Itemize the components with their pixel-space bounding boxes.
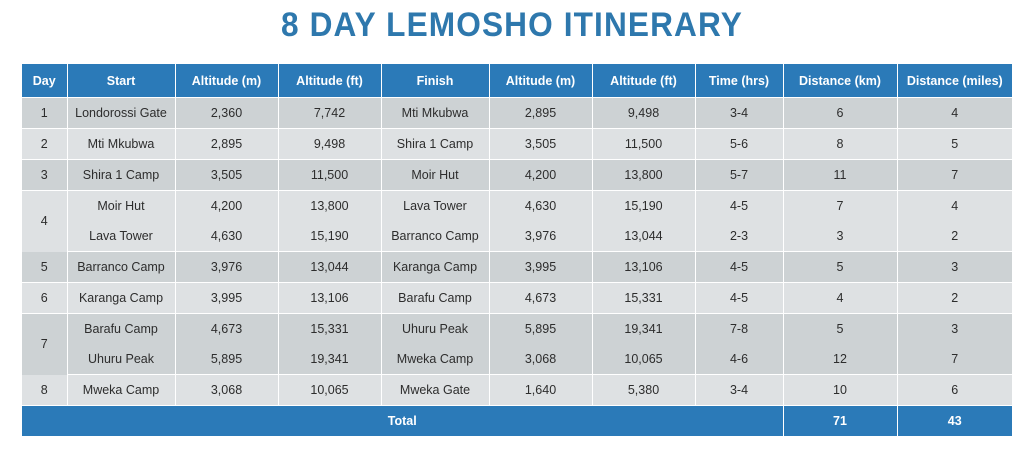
column-header-time[interactable]: Time (hrs): [695, 64, 783, 98]
cell-finish-altitude-m: 3,995: [489, 252, 592, 283]
cell-start: Shira 1 Camp: [67, 160, 175, 191]
cell-finish: Mti Mkubwa: [381, 98, 489, 129]
cell-start-altitude-m: 4,200: [175, 191, 278, 222]
cell-finish-altitude-ft: 13,106: [592, 252, 695, 283]
cell-finish-altitude-ft: 10,065: [592, 344, 695, 375]
cell-time-hrs: 7-8: [695, 314, 783, 345]
cell-distance-km: 7: [783, 191, 897, 222]
cell-start: Karanga Camp: [67, 283, 175, 314]
cell-day: 8: [22, 375, 67, 406]
itinerary-table: Day Start Altitude (m) Altitude (ft) Fin…: [22, 64, 1012, 436]
cell-start: Barranco Camp: [67, 252, 175, 283]
cell-time-hrs: 2-3: [695, 221, 783, 252]
cell-finish: Lava Tower: [381, 191, 489, 222]
cell-start: Uhuru Peak: [67, 344, 175, 375]
cell-start: Barafu Camp: [67, 314, 175, 345]
itinerary-table-container: Day Start Altitude (m) Altitude (ft) Fin…: [22, 64, 1002, 436]
cell-finish-altitude-ft: 5,380: [592, 375, 695, 406]
cell-finish-altitude-m: 4,200: [489, 160, 592, 191]
column-header-distance-miles[interactable]: Distance (miles): [897, 64, 1012, 98]
total-distance-km: 71: [783, 406, 897, 437]
cell-finish-altitude-m: 3,976: [489, 221, 592, 252]
cell-start-altitude-m: 3,068: [175, 375, 278, 406]
cell-distance-miles: 7: [897, 344, 1012, 375]
table-header-row: Day Start Altitude (m) Altitude (ft) Fin…: [22, 64, 1012, 98]
total-row: Total 71 43: [22, 406, 1012, 437]
column-header-start-alt-ft[interactable]: Altitude (ft): [278, 64, 381, 98]
table-row: 7Barafu Camp4,67315,331Uhuru Peak5,89519…: [22, 314, 1012, 345]
itinerary-page: 8 DAY LEMOSHO ITINERARY Day Start Altitu…: [0, 0, 1024, 454]
cell-finish-altitude-ft: 9,498: [592, 98, 695, 129]
cell-time-hrs: 3-4: [695, 98, 783, 129]
cell-finish-altitude-m: 2,895: [489, 98, 592, 129]
cell-distance-miles: 6: [897, 375, 1012, 406]
cell-finish-altitude-ft: 15,331: [592, 283, 695, 314]
cell-start: Mti Mkubwa: [67, 129, 175, 160]
cell-start-altitude-m: 4,673: [175, 314, 278, 345]
table-row: 8Mweka Camp3,06810,065Mweka Gate1,6405,3…: [22, 375, 1012, 406]
cell-distance-miles: 3: [897, 252, 1012, 283]
table-row: 6Karanga Camp3,99513,106Barafu Camp4,673…: [22, 283, 1012, 314]
cell-distance-km: 6: [783, 98, 897, 129]
table-row: 2Mti Mkubwa2,8959,498Shira 1 Camp3,50511…: [22, 129, 1012, 160]
cell-finish: Moir Hut: [381, 160, 489, 191]
cell-start: Moir Hut: [67, 191, 175, 222]
cell-start-altitude-m: 2,360: [175, 98, 278, 129]
cell-distance-miles: 2: [897, 283, 1012, 314]
cell-distance-km: 5: [783, 314, 897, 345]
cell-finish: Barranco Camp: [381, 221, 489, 252]
cell-distance-miles: 4: [897, 98, 1012, 129]
column-header-finish[interactable]: Finish: [381, 64, 489, 98]
column-header-day[interactable]: Day: [22, 64, 67, 98]
cell-distance-miles: 4: [897, 191, 1012, 222]
cell-distance-miles: 2: [897, 221, 1012, 252]
cell-start-altitude-m: 3,976: [175, 252, 278, 283]
cell-start: Lava Tower: [67, 221, 175, 252]
cell-time-hrs: 3-4: [695, 375, 783, 406]
cell-time-hrs: 4-5: [695, 252, 783, 283]
cell-start-altitude-m: 3,995: [175, 283, 278, 314]
cell-distance-km: 10: [783, 375, 897, 406]
cell-distance-miles: 3: [897, 314, 1012, 345]
cell-start-altitude-m: 3,505: [175, 160, 278, 191]
total-distance-miles: 43: [897, 406, 1012, 437]
cell-start-altitude-ft: 7,742: [278, 98, 381, 129]
column-header-start-alt-m[interactable]: Altitude (m): [175, 64, 278, 98]
column-header-start[interactable]: Start: [67, 64, 175, 98]
table-row: Uhuru Peak5,89519,341Mweka Camp3,06810,0…: [22, 344, 1012, 375]
cell-time-hrs: 5-6: [695, 129, 783, 160]
cell-start-altitude-ft: 10,065: [278, 375, 381, 406]
table-body: 1Londorossi Gate2,3607,742Mti Mkubwa2,89…: [22, 98, 1012, 406]
cell-finish-altitude-m: 4,673: [489, 283, 592, 314]
cell-finish-altitude-m: 3,505: [489, 129, 592, 160]
cell-distance-km: 3: [783, 221, 897, 252]
cell-day: 4: [22, 191, 67, 252]
cell-start-altitude-ft: 15,331: [278, 314, 381, 345]
cell-time-hrs: 4-5: [695, 191, 783, 222]
cell-finish: Mweka Camp: [381, 344, 489, 375]
cell-day: 6: [22, 283, 67, 314]
cell-day: 2: [22, 129, 67, 160]
cell-distance-km: 4: [783, 283, 897, 314]
cell-finish: Uhuru Peak: [381, 314, 489, 345]
cell-start: Mweka Camp: [67, 375, 175, 406]
cell-finish-altitude-m: 1,640: [489, 375, 592, 406]
cell-start-altitude-ft: 15,190: [278, 221, 381, 252]
cell-time-hrs: 5-7: [695, 160, 783, 191]
cell-start-altitude-ft: 13,044: [278, 252, 381, 283]
table-row: 5Barranco Camp3,97613,044Karanga Camp3,9…: [22, 252, 1012, 283]
table-row: Lava Tower4,63015,190Barranco Camp3,9761…: [22, 221, 1012, 252]
cell-time-hrs: 4-5: [695, 283, 783, 314]
cell-start-altitude-ft: 13,106: [278, 283, 381, 314]
cell-distance-km: 8: [783, 129, 897, 160]
cell-start: Londorossi Gate: [67, 98, 175, 129]
column-header-finish-alt-m[interactable]: Altitude (m): [489, 64, 592, 98]
cell-day: 5: [22, 252, 67, 283]
cell-finish-altitude-m: 5,895: [489, 314, 592, 345]
cell-start-altitude-ft: 11,500: [278, 160, 381, 191]
cell-finish-altitude-ft: 11,500: [592, 129, 695, 160]
cell-distance-km: 12: [783, 344, 897, 375]
cell-start-altitude-m: 4,630: [175, 221, 278, 252]
cell-day: 1: [22, 98, 67, 129]
cell-finish: Shira 1 Camp: [381, 129, 489, 160]
table-row: 1Londorossi Gate2,3607,742Mti Mkubwa2,89…: [22, 98, 1012, 129]
cell-time-hrs: 4-6: [695, 344, 783, 375]
total-label: Total: [22, 406, 783, 437]
cell-finish-altitude-ft: 19,341: [592, 314, 695, 345]
cell-finish-altitude-m: 4,630: [489, 191, 592, 222]
cell-finish-altitude-ft: 15,190: [592, 191, 695, 222]
cell-distance-miles: 5: [897, 129, 1012, 160]
cell-finish-altitude-m: 3,068: [489, 344, 592, 375]
cell-finish-altitude-ft: 13,044: [592, 221, 695, 252]
column-header-finish-alt-ft[interactable]: Altitude (ft): [592, 64, 695, 98]
cell-start-altitude-ft: 9,498: [278, 129, 381, 160]
cell-day: 7: [22, 314, 67, 375]
cell-finish: Karanga Camp: [381, 252, 489, 283]
cell-start-altitude-ft: 13,800: [278, 191, 381, 222]
cell-start-altitude-ft: 19,341: [278, 344, 381, 375]
cell-distance-miles: 7: [897, 160, 1012, 191]
table-header: Day Start Altitude (m) Altitude (ft) Fin…: [22, 64, 1012, 98]
cell-start-altitude-m: 2,895: [175, 129, 278, 160]
table-row: 3Shira 1 Camp3,50511,500Moir Hut4,20013,…: [22, 160, 1012, 191]
table-footer: Total 71 43: [22, 406, 1012, 437]
cell-distance-km: 11: [783, 160, 897, 191]
column-header-distance-km[interactable]: Distance (km): [783, 64, 897, 98]
cell-distance-km: 5: [783, 252, 897, 283]
cell-day: 3: [22, 160, 67, 191]
cell-finish: Mweka Gate: [381, 375, 489, 406]
cell-start-altitude-m: 5,895: [175, 344, 278, 375]
table-row: 4Moir Hut4,20013,800Lava Tower4,63015,19…: [22, 191, 1012, 222]
page-title: 8 DAY LEMOSHO ITINERARY: [36, 6, 988, 45]
cell-finish-altitude-ft: 13,800: [592, 160, 695, 191]
cell-finish: Barafu Camp: [381, 283, 489, 314]
